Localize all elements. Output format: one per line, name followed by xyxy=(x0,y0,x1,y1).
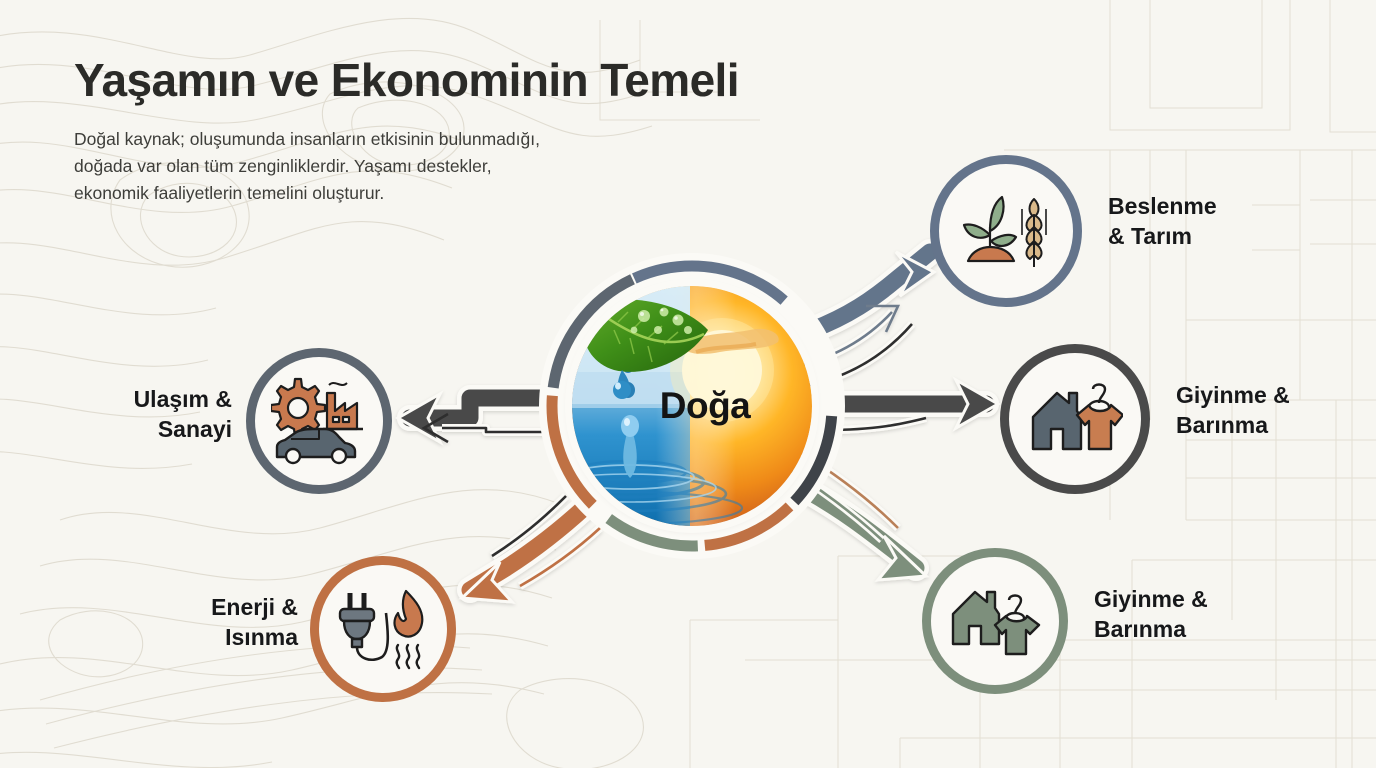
center-node-doga[interactable]: Doğa xyxy=(548,262,836,550)
center-node-label: Doğa xyxy=(548,262,836,550)
node-giyinme-barinma-sage[interactable]: Giyinme & Barınma xyxy=(922,548,1302,700)
node-label-enerji-isinma: Enerji & Isınma xyxy=(166,592,298,653)
heat-waves-icon xyxy=(397,645,419,668)
node-label-beslenme-tarim: Beslenme & Tarım xyxy=(1108,191,1358,252)
giyinme-barinma-dark-icons xyxy=(1027,381,1123,457)
tshirt-icon xyxy=(1077,385,1123,450)
ulasim-sanayi-icons xyxy=(271,377,367,465)
flame-icon xyxy=(395,591,423,637)
tshirt-icon xyxy=(995,596,1039,655)
node-label-ulasim-sanayi: Ulaşım & Sanayi xyxy=(86,384,232,445)
house-icon xyxy=(953,592,999,644)
car-icon xyxy=(277,429,355,463)
connector-ulasim-sanayi xyxy=(398,394,556,442)
house-icon xyxy=(1033,393,1081,449)
node-label-giyinme-barinma-sage: Giyinme & Barınma xyxy=(1094,584,1294,645)
factory-icon xyxy=(323,383,363,429)
node-circle-giyinme-barinma-sage[interactable] xyxy=(922,548,1068,694)
page-subtitle: Doğal kaynak; oluşumunda insanların etki… xyxy=(74,126,554,208)
node-circle-ulasim-sanayi[interactable] xyxy=(246,348,392,494)
node-ulasim-sanayi[interactable]: Ulaşım & Sanayi xyxy=(96,348,392,496)
node-giyinme-barinma-dark[interactable]: Giyinme & Barınma xyxy=(1000,344,1376,496)
beslenme-tarim-icons xyxy=(960,189,1052,273)
node-circle-beslenme-tarim[interactable] xyxy=(930,155,1082,307)
giyinme-barinma-sage-icons xyxy=(949,584,1041,658)
node-label-giyinme-barinma-dark: Giyinme & Barınma xyxy=(1176,380,1376,441)
node-enerji-isinma[interactable]: Enerji & Isınma xyxy=(186,556,476,702)
connector-giyinme-barinma-dark xyxy=(826,380,998,430)
node-circle-giyinme-barinma-dark[interactable] xyxy=(1000,344,1150,494)
infographic-canvas: Yaşamın ve Ekonominin Temeli Doğal kayna… xyxy=(0,0,1376,768)
node-beslenme-tarim[interactable]: Beslenme & Tarım xyxy=(930,155,1360,310)
plug-icon xyxy=(340,593,388,660)
plant-sprout-icon xyxy=(964,197,1016,261)
wheat-icon xyxy=(1022,199,1046,267)
enerji-isinma-icons xyxy=(338,587,428,671)
page-title: Yaşamın ve Ekonominin Temeli xyxy=(74,56,634,106)
node-circle-enerji-isinma[interactable] xyxy=(310,556,456,702)
header-block: Yaşamın ve Ekonominin Temeli Doğal kayna… xyxy=(74,56,634,208)
